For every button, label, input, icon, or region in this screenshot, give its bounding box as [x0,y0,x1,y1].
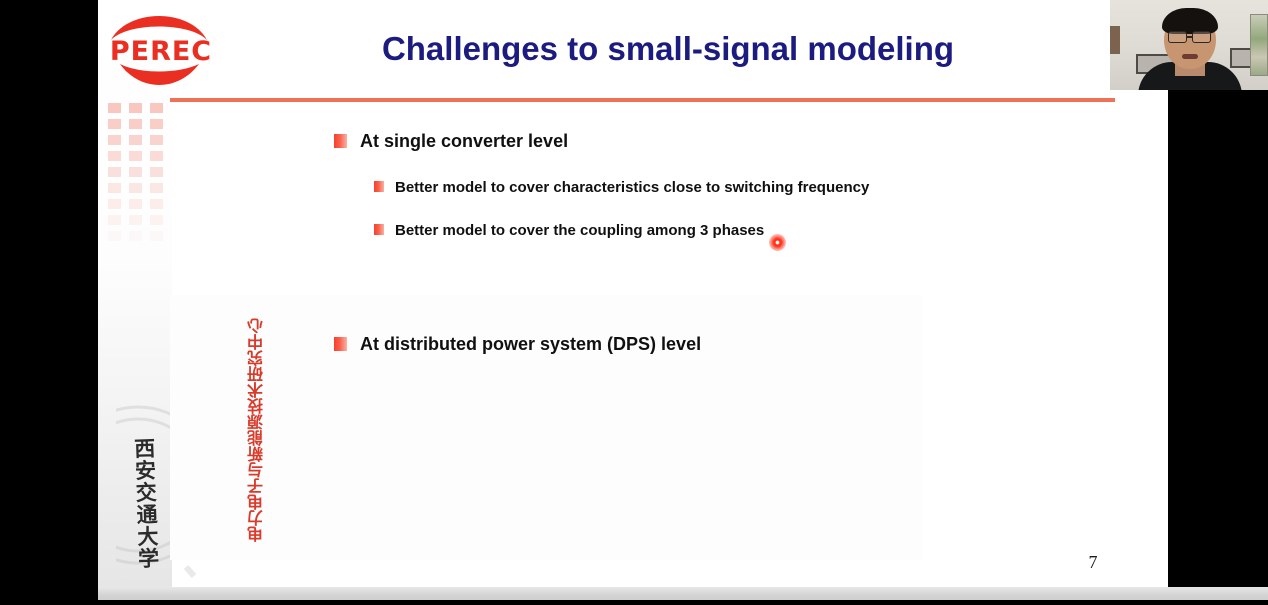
grid-square-decoration [150,167,163,177]
grid-square-decoration [129,215,142,225]
title-divider-rule [170,98,1115,102]
presenter-webcam-video[interactable] [1110,0,1268,90]
grid-square-decoration [108,103,121,113]
grid-square-decoration [108,135,121,145]
bullet-marker-icon [334,337,347,351]
webcam-wall-frame-left [1110,26,1120,54]
bullet-item: At single converter level [334,130,568,152]
bullet-marker-icon [374,224,384,235]
webcam-wall-poster [1250,14,1268,76]
presenter-eyeglass-left [1168,31,1187,43]
slide-page-number: 7 [1073,552,1113,573]
presenter-eyeglass-right [1192,31,1211,43]
bullet-label: At single converter level [360,130,568,152]
bullet-item: Better model to cover the coupling among… [374,221,764,240]
presenter-mouth [1182,54,1198,59]
bullet-item: At distributed power system (DPS) level [334,333,701,355]
grid-square-decoration [150,231,163,241]
research-center-vertical-name: 电力电子与新能源技术研究中心 [248,318,265,542]
bullet-item: Better model to cover characteristics cl… [374,178,869,197]
perec-logo: PEREC [106,12,216,90]
dot-grid-decoration [108,103,172,243]
grid-square-decoration [108,199,121,209]
grid-square-decoration [129,231,142,241]
grid-square-decoration [108,151,121,161]
bottom-edge-strip [98,587,1268,600]
bullet-label: Better model to cover characteristics cl… [395,178,869,197]
grid-square-decoration [129,183,142,193]
grid-square-decoration [108,215,121,225]
bullet-label: Better model to cover the coupling among… [395,221,764,240]
grid-square-decoration [129,119,142,129]
grid-square-decoration [150,199,163,209]
perec-logo-text: PEREC [106,38,216,66]
bullet-marker-icon [334,134,347,148]
slide-canvas: 西安交通大学 电力电子与新能源技术研究中心 PEREC Challenges t… [98,0,1168,588]
grid-square-decoration [150,135,163,145]
grid-square-decoration [150,215,163,225]
presenter-eyeglass-bridge [1187,36,1192,38]
grid-square-decoration [129,103,142,113]
grid-square-decoration [150,151,163,161]
slide-title: Challenges to small-signal modeling [218,30,1118,68]
grid-square-decoration [108,183,121,193]
grid-square-decoration [129,167,142,177]
presentation-screen: 西安交通大学 电力电子与新能源技术研究中心 PEREC Challenges t… [0,0,1268,605]
grid-square-decoration [150,119,163,129]
university-calligraphy: 西安交通大学 [98,437,161,588]
grid-square-decoration [129,135,142,145]
grid-square-decoration [129,151,142,161]
grid-square-decoration [150,103,163,113]
bottom-black-bar [98,600,1268,605]
bullet-label: At distributed power system (DPS) level [360,333,701,355]
grid-square-decoration [129,199,142,209]
bullet-marker-icon [374,181,384,192]
grid-square-decoration [150,183,163,193]
grid-square-decoration [108,167,121,177]
laser-pointer-dot [769,234,786,251]
grid-square-decoration [108,119,121,129]
grid-square-decoration [108,231,121,241]
